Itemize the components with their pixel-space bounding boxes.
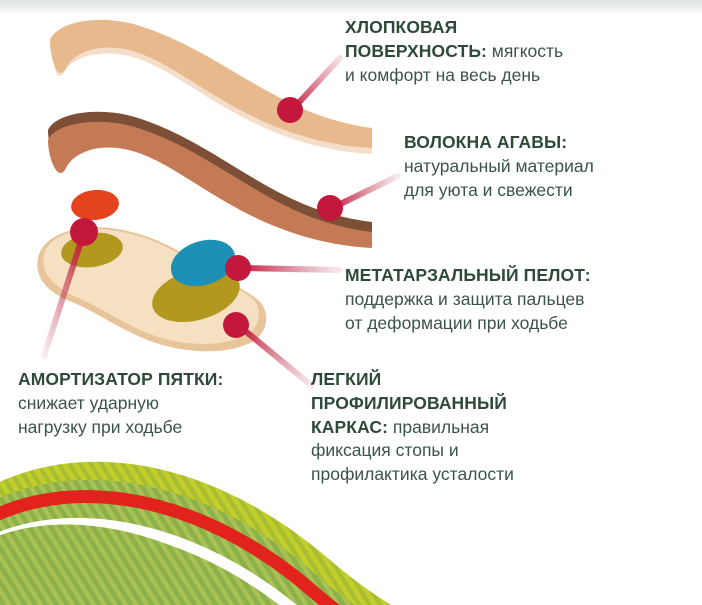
callout-cotton-heading-line-2: ПОВЕРХНОСТЬ: [345, 41, 487, 61]
marker-dot-frame [223, 312, 249, 338]
callout-heel-heading-line-1: АМОРТИЗАТОР ПЯТКИ: [18, 369, 223, 389]
callout-frame-body-line-1: правильная [388, 417, 489, 437]
callout-metatarsal-pad: МЕТАТАРЗАЛЬНЫЙ ПЕЛОТ: поддержка и защита… [345, 264, 697, 335]
callout-cotton-body-line-1: мягкость [487, 41, 563, 61]
callout-metatarsal-body-line-1: поддержка и защита пальцев [345, 289, 584, 309]
callout-agave-heading-line-1: ВОЛОКНА АГАВЫ: [404, 132, 567, 152]
callout-heel-shock-absorber: АМОРТИЗАТОР ПЯТКИ: снижает ударную нагру… [18, 368, 308, 439]
leader-line-metatarsal [240, 268, 340, 270]
callout-cotton-surface: ХЛОПКОВАЯ ПОВЕРХНОСТЬ: мягкость и комфор… [345, 16, 695, 87]
callout-heel-body-line-1: снижает ударную [18, 393, 159, 413]
callout-cotton-body-line-2: и комфорт на весь день [345, 65, 540, 85]
callout-heel-body-line-2: нагрузку при ходьбе [18, 417, 182, 437]
marker-dot-agave [317, 195, 343, 221]
callout-metatarsal-heading-line-1: МЕТАТАРЗАЛЬНЫЙ ПЕЛОТ: [345, 265, 591, 285]
callout-agave-body-line-2: для уюта и свежести [404, 180, 573, 200]
callout-lightweight-frame: ЛЕГКИЙ ПРОФИЛИРОВАННЫЙ КАРКАС: правильна… [311, 368, 611, 487]
callout-frame-body-line-3: профилактика усталости [311, 464, 514, 484]
callout-frame-body-line-2: фиксация стопы и [311, 440, 459, 460]
marker-dot-heel [70, 218, 98, 246]
callout-cotton-heading-line-1: ХЛОПКОВАЯ [345, 17, 457, 37]
callout-agave-body-line-1: натуральный материал [404, 156, 594, 176]
marker-dot-metatarsal [225, 255, 251, 281]
marker-dot-cotton [277, 97, 303, 123]
callout-frame-heading-line-1: ЛЕГКИЙ [311, 369, 381, 389]
callout-frame-heading-line-2: ПРОФИЛИРОВАННЫЙ [311, 393, 507, 413]
callout-frame-heading-line-3: КАРКАС: [311, 417, 388, 437]
callout-agave-fibers: ВОЛОКНА АГАВЫ: натуральный материал для … [404, 131, 696, 202]
heel-cushion-ellipse [70, 188, 121, 223]
infographic-canvas: ХЛОПКОВАЯ ПОВЕРХНОСТЬ: мягкость и комфор… [0, 0, 702, 605]
callout-metatarsal-body-line-2: от деформации при ходьбе [345, 313, 568, 333]
